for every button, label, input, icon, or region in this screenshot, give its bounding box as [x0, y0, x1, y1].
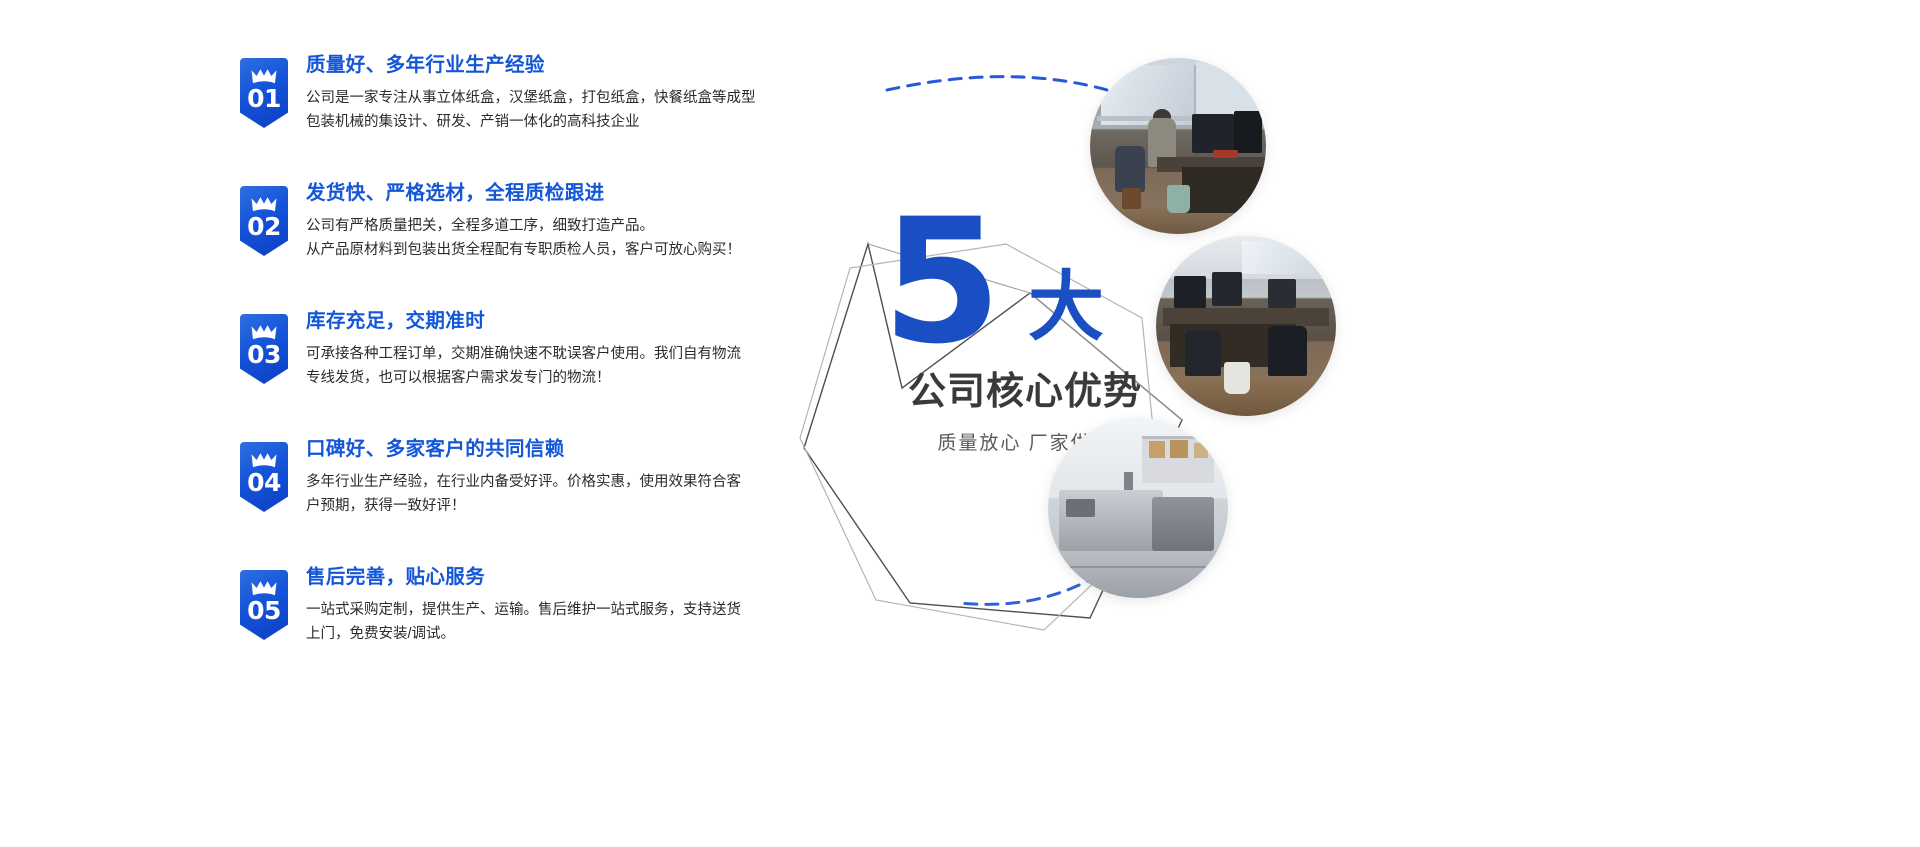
feature-badge: 05	[240, 570, 288, 640]
promo-banner: 01 质量好、多年行业生产经验 公司是一家专注从事立体纸盒，汉堡纸盒，打包纸盒，…	[0, 0, 1920, 847]
heptagon-facet-line	[868, 244, 1182, 420]
feature-item: 01 质量好、多年行业生产经验 公司是一家专注从事立体纸盒，汉堡纸盒，打包纸盒，…	[240, 52, 780, 162]
feature-title: 库存充足，交期准时	[306, 310, 741, 333]
feature-number: 04	[240, 470, 288, 495]
feature-text: 库存充足，交期准时 可承接各种工程订单，交期准确快速不耽误客户使用。我们自有物流…	[306, 308, 741, 390]
feature-desc-line: 从产品原材料到包装出货全程配有专职质检人员，客户可放心购买！	[306, 239, 741, 262]
feature-desc-line: 公司是一家专注从事立体纸盒，汉堡纸盒，打包纸盒，快餐纸盒等成型	[306, 87, 756, 110]
feature-item: 02 发货快、严格选材，全程质检跟进 公司有严格质量把关，全程多道工序，细致打造…	[240, 180, 780, 290]
feature-list: 01 质量好、多年行业生产经验 公司是一家专注从事立体纸盒，汉堡纸盒，打包纸盒，…	[240, 52, 780, 792]
feature-description: 多年行业生产经验，在行业内备受好评。价格实惠，使用效果符合客 户预期，获得一致好…	[306, 471, 741, 518]
feature-desc-line: 一站式采购定制，提供生产、运输。售后维护一站式服务，支持送货	[306, 599, 741, 622]
office-room-photo	[1156, 236, 1336, 416]
feature-badge: 04	[240, 442, 288, 512]
feature-number: 03	[240, 342, 288, 367]
feature-desc-line: 可承接各种工程订单，交期准确快速不耽误客户使用。我们自有物流	[306, 343, 741, 366]
feature-number: 05	[240, 598, 288, 623]
feature-number: 02	[240, 214, 288, 239]
hero-graphic: 5 大 公司核心优势 质量放心 厂家供应	[790, 18, 1800, 828]
feature-desc-line: 专线发货，也可以根据客户需求发专门的物流！	[306, 367, 741, 390]
feature-desc-line: 公司有严格质量把关，全程多道工序，细致打造产品。	[306, 215, 741, 238]
feature-text: 质量好、多年行业生产经验 公司是一家专注从事立体纸盒，汉堡纸盒，打包纸盒，快餐纸…	[306, 52, 756, 134]
feature-number: 01	[240, 86, 288, 111]
feature-description: 公司是一家专注从事立体纸盒，汉堡纸盒，打包纸盒，快餐纸盒等成型 包装机械的集设计…	[306, 87, 756, 134]
feature-description: 一站式采购定制，提供生产、运输。售后维护一站式服务，支持送货 上门，免费安装/调…	[306, 599, 741, 646]
feature-text: 售后完善，贴心服务 一站式采购定制，提供生产、运输。售后维护一站式服务，支持送货…	[306, 564, 741, 646]
feature-desc-line: 多年行业生产经验，在行业内备受好评。价格实惠，使用效果符合客	[306, 471, 741, 494]
feature-title: 售后完善，贴心服务	[306, 566, 741, 589]
feature-desc-line: 包装机械的集设计、研发、产销一体化的高科技企业	[306, 111, 756, 134]
feature-badge: 01	[240, 58, 288, 128]
feature-desc-line: 上门，免费安装/调试。	[306, 623, 741, 646]
feature-item: 04 口碑好、多家客户的共同信赖 多年行业生产经验，在行业内备受好评。价格实惠，…	[240, 436, 780, 546]
feature-badge: 02	[240, 186, 288, 256]
factory-machine-photo	[1048, 418, 1228, 598]
feature-text: 口碑好、多家客户的共同信赖 多年行业生产经验，在行业内备受好评。价格实惠，使用效…	[306, 436, 741, 518]
feature-desc-line: 户预期，获得一致好评！	[306, 495, 741, 518]
feature-badge: 03	[240, 314, 288, 384]
office-workstation-photo	[1090, 58, 1266, 234]
feature-text: 发货快、严格选材，全程质检跟进 公司有严格质量把关，全程多道工序，细致打造产品。…	[306, 180, 741, 262]
hero-decoration-svg	[790, 18, 1800, 828]
feature-description: 公司有严格质量把关，全程多道工序，细致打造产品。 从产品原材料到包装出货全程配有…	[306, 215, 741, 262]
feature-description: 可承接各种工程订单，交期准确快速不耽误客户使用。我们自有物流 专线发货，也可以根…	[306, 343, 741, 390]
feature-title: 质量好、多年行业生产经验	[306, 54, 756, 77]
feature-item: 05 售后完善，贴心服务 一站式采购定制，提供生产、运输。售后维护一站式服务，支…	[240, 564, 780, 674]
feature-title: 口碑好、多家客户的共同信赖	[306, 438, 741, 461]
feature-item: 03 库存充足，交期准时 可承接各种工程订单，交期准确快速不耽误客户使用。我们自…	[240, 308, 780, 418]
feature-title: 发货快、严格选材，全程质检跟进	[306, 182, 741, 205]
